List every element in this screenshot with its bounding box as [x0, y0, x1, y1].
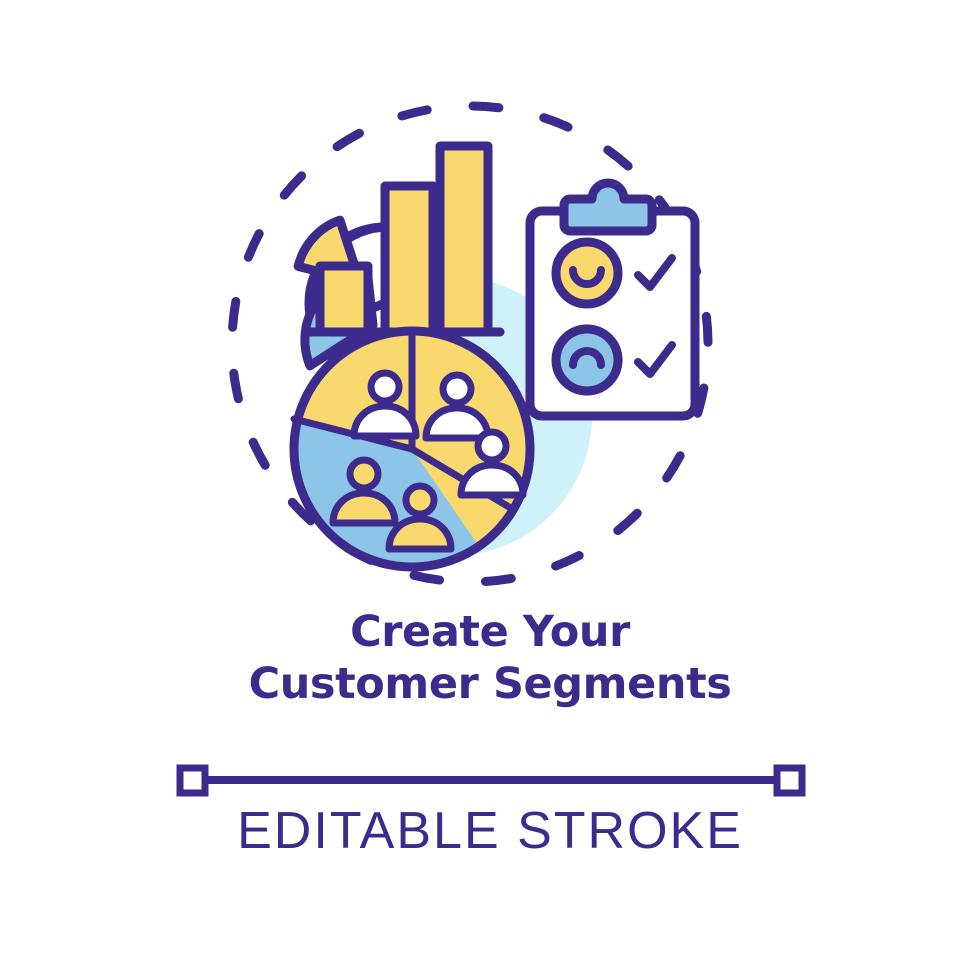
bar-2 [385, 186, 433, 332]
illustration-area [0, 86, 980, 606]
stroke-width-indicator-graphic [0, 752, 980, 800]
concept-icon-page: Create Your Customer Segments EDITABLE S… [0, 0, 980, 980]
right-square-handle [777, 768, 802, 793]
happy-face-icon [556, 242, 618, 304]
page-title: Create Your Customer Segments [0, 606, 980, 710]
survey-clipboard [530, 183, 695, 416]
audience-segment-pie-chart [250, 329, 532, 606]
bar-1 [320, 266, 368, 332]
page-title-line-1: Create Your [0, 606, 980, 658]
bar-3 [440, 146, 488, 332]
page-title-line-2: Customer Segments [0, 658, 980, 710]
editable-stroke-label: EDITABLE STROKE [237, 802, 743, 860]
customer-segments-illustration [0, 86, 980, 606]
clipboard-clip [564, 183, 652, 231]
sad-face-icon [556, 329, 618, 391]
editable-stroke-caption: EDITABLE STROKE [0, 800, 980, 862]
stroke-width-indicator [0, 752, 980, 800]
left-square-handle [180, 768, 205, 793]
clipboard-board [530, 211, 695, 416]
